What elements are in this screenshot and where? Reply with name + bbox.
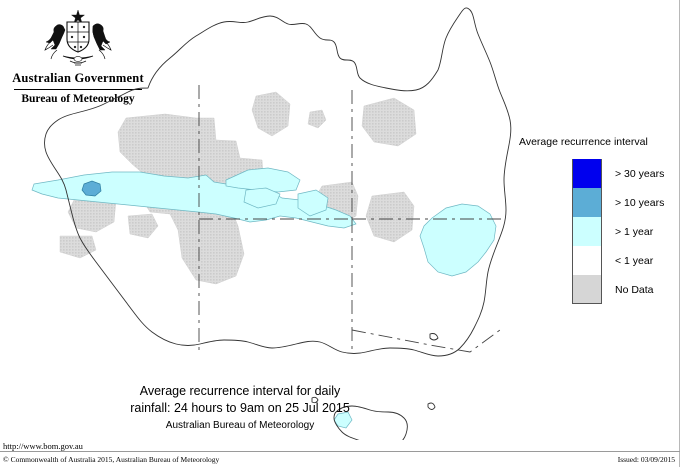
- legend-row[interactable]: > 1 year: [519, 217, 674, 246]
- copyright-notice: © Commonwealth of Australia 2015, Austra…: [3, 455, 219, 464]
- legend-label-gt-10-years: > 10 years: [615, 197, 664, 209]
- map-legend: Average recurrence interval > 30 years >…: [519, 136, 674, 304]
- map-svg: [0, 0, 530, 440]
- footer-divider: [0, 451, 680, 452]
- issued-date: Issued: 03/09/2015: [618, 455, 675, 464]
- legend-swatch-gt-30-years: [572, 159, 602, 188]
- caption-line-2: rainfall: 24 hours to 9am on 25 Jul 2015: [60, 400, 420, 417]
- legend-swatch-lt-1-year: [572, 246, 602, 275]
- legend-label-lt-1-year: < 1 year: [615, 255, 653, 267]
- legend-label-no-data: No Data: [615, 284, 654, 296]
- bom-website-url[interactable]: http://www.bom.gov.au: [3, 441, 83, 451]
- legend-swatch-gt-1-year: [572, 217, 602, 246]
- legend-row[interactable]: > 10 years: [519, 188, 674, 217]
- legend-row[interactable]: < 1 year: [519, 246, 674, 275]
- legend-label-gt-1-year: > 1 year: [615, 226, 653, 238]
- legend-row[interactable]: No Data: [519, 275, 674, 304]
- legend-label-gt-30-years: > 30 years: [615, 168, 664, 180]
- legend-swatch-no-data: [572, 275, 602, 304]
- caption-line-3: Australian Bureau of Meteorology: [60, 418, 420, 433]
- map-caption: Average recurrence interval for daily ra…: [60, 383, 420, 433]
- caption-line-1: Average recurrence interval for daily: [60, 383, 420, 400]
- legend-row[interactable]: > 30 years: [519, 159, 674, 188]
- legend-swatch-gt-10-years: [572, 188, 602, 217]
- australia-rainfall-recurrence-map[interactable]: [0, 0, 530, 440]
- bom-rainfall-map-page: Australian Government Bureau of Meteorol…: [0, 0, 680, 467]
- legend-title: Average recurrence interval: [519, 136, 674, 148]
